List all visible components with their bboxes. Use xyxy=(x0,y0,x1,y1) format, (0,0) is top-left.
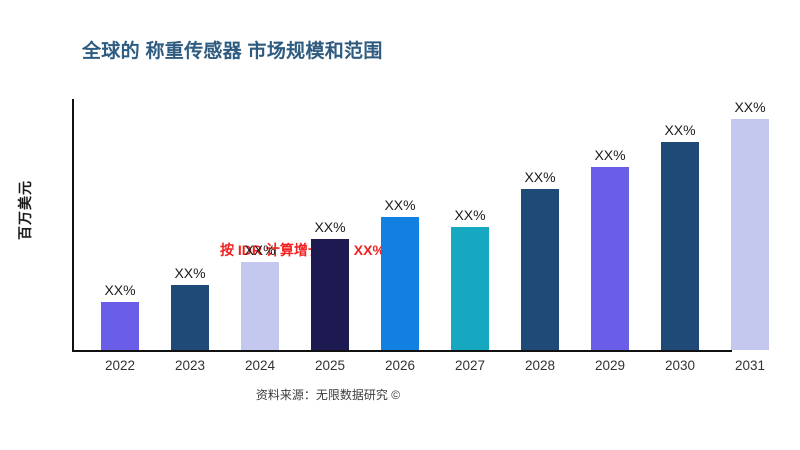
bar[interactable] xyxy=(451,227,489,350)
bar[interactable] xyxy=(311,239,349,350)
bar-value-label: XX% xyxy=(734,99,765,115)
source-note: 资料来源：无限数据研究 © xyxy=(0,386,800,403)
x-axis-tick-label: 2024 xyxy=(245,358,275,373)
chart-page: 全球的 称重传感器 市场规模和范围 百万美元 按 IDR 计算增长率为 XX% … xyxy=(0,0,800,450)
bar-group: XX%2023 xyxy=(171,99,209,352)
bar-value-label: XX% xyxy=(454,207,485,223)
bar-group: XX%2031 xyxy=(731,99,769,352)
bar-group: XX%2028 xyxy=(521,99,559,352)
bar-value-label: XX% xyxy=(664,122,695,138)
x-axis-tick-label: 2025 xyxy=(315,358,345,373)
bar-value-label: XX% xyxy=(524,169,555,185)
bar-group: XX%2025 xyxy=(311,99,349,352)
bar[interactable] xyxy=(171,285,209,350)
x-axis-tick-label: 2027 xyxy=(455,358,485,373)
bar-group: XX%2024 xyxy=(241,99,279,352)
plot-area: 按 IDR 计算增长率为 XX% XX%2022XX%2023XX%2024XX… xyxy=(72,99,732,352)
bar[interactable] xyxy=(591,167,629,350)
bar-group: XX%2026 xyxy=(381,99,419,352)
x-axis-tick-label: 2028 xyxy=(525,358,555,373)
bar[interactable] xyxy=(731,119,769,350)
y-axis-line xyxy=(72,99,74,352)
bar[interactable] xyxy=(381,217,419,350)
bar-value-label: XX% xyxy=(174,265,205,281)
x-axis-tick-label: 2023 xyxy=(175,358,205,373)
bar-value-label: XX% xyxy=(244,242,275,258)
bar-value-label: XX% xyxy=(104,282,135,298)
bar[interactable] xyxy=(521,189,559,350)
bar-group: XX%2027 xyxy=(451,99,489,352)
bar[interactable] xyxy=(101,302,139,350)
bar-group: XX%2029 xyxy=(591,99,629,352)
x-axis-tick-label: 2029 xyxy=(595,358,625,373)
bar-value-label: XX% xyxy=(314,219,345,235)
bar[interactable] xyxy=(661,142,699,350)
bar-group: XX%2022 xyxy=(101,99,139,352)
bar-value-label: XX% xyxy=(384,197,415,213)
y-axis-label: 百万美元 xyxy=(15,155,35,265)
bar[interactable] xyxy=(241,262,279,350)
x-axis-tick-label: 2031 xyxy=(735,358,765,373)
page-title: 全球的 称重传感器 市场规模和范围 xyxy=(82,36,383,63)
x-axis-tick-label: 2026 xyxy=(385,358,415,373)
x-axis-tick-label: 2030 xyxy=(665,358,695,373)
x-axis-tick-label: 2022 xyxy=(105,358,135,373)
bar-group: XX%2030 xyxy=(661,99,699,352)
source-text: 资料来源：无限数据研究 © xyxy=(256,386,400,403)
bar-value-label: XX% xyxy=(594,147,625,163)
